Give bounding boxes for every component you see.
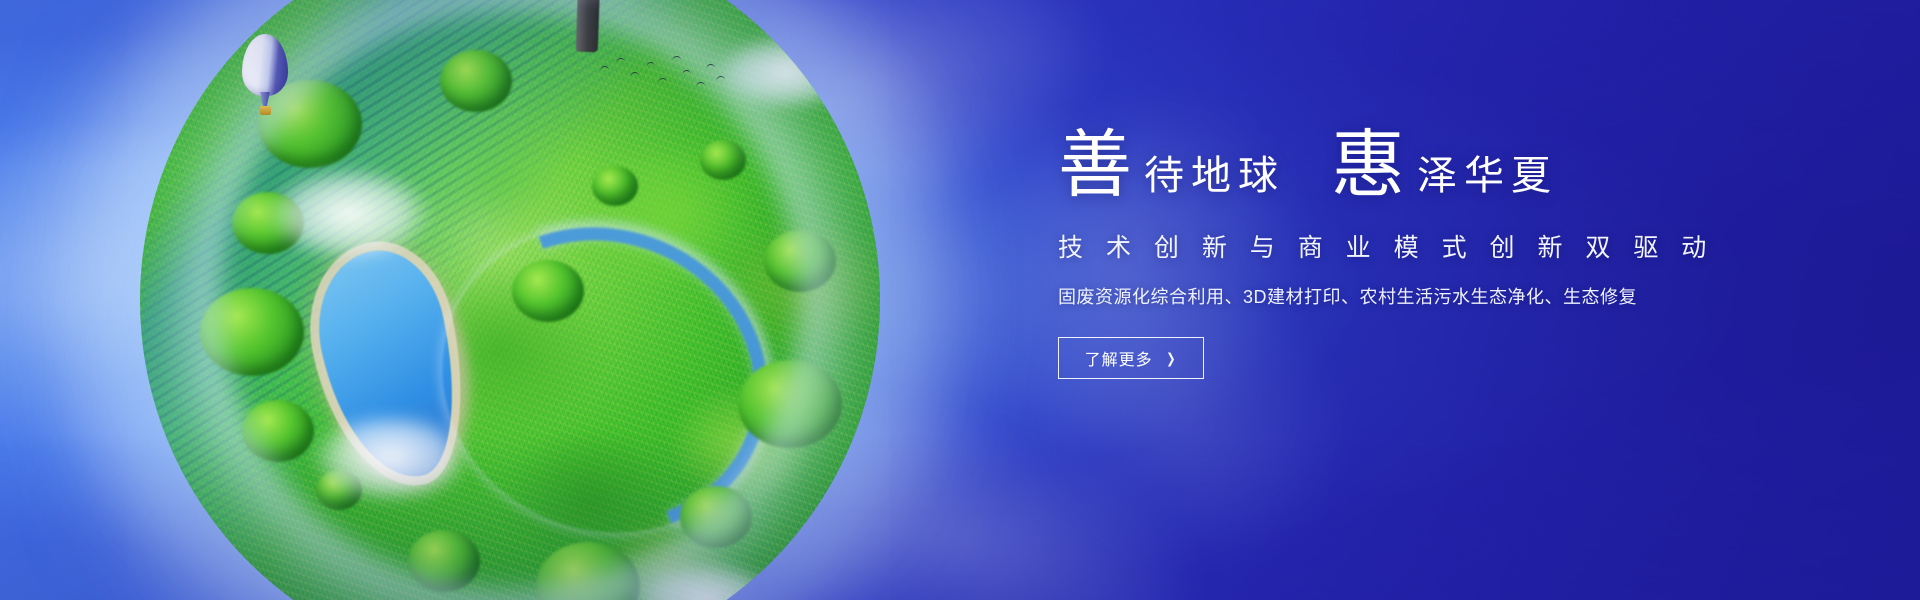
learn-more-label: 了解更多 <box>1085 346 1153 370</box>
description: 固废资源化综合利用、3D建材打印、农村生活污水生态净化、生态修复 <box>1058 283 1758 309</box>
tagline: 技 术 创 新 与 商 业 模 式 创 新 双 驱 动 <box>1058 228 1758 264</box>
chevron-right-icon: ❯ <box>1166 351 1176 365</box>
hero-content: 善 待地球 惠 泽华夏 技 术 创 新 与 商 业 模 式 创 新 双 驱 动 … <box>1058 128 1758 379</box>
learn-more-button[interactable]: 了解更多 ❯ <box>1058 337 1204 379</box>
headline-phrase1-rest: 待地球 <box>1134 156 1285 202</box>
hero-banner: 善 待地球 惠 泽华夏 技 术 创 新 与 商 业 模 式 创 新 双 驱 动 … <box>0 0 1920 600</box>
headline-phrase1-emphasis: 善 <box>1058 128 1134 202</box>
page-title: 善 待地球 惠 泽华夏 <box>1058 128 1758 202</box>
headline-phrase2-rest: 泽华夏 <box>1407 156 1558 202</box>
headline-phrase2-emphasis: 惠 <box>1331 128 1407 202</box>
